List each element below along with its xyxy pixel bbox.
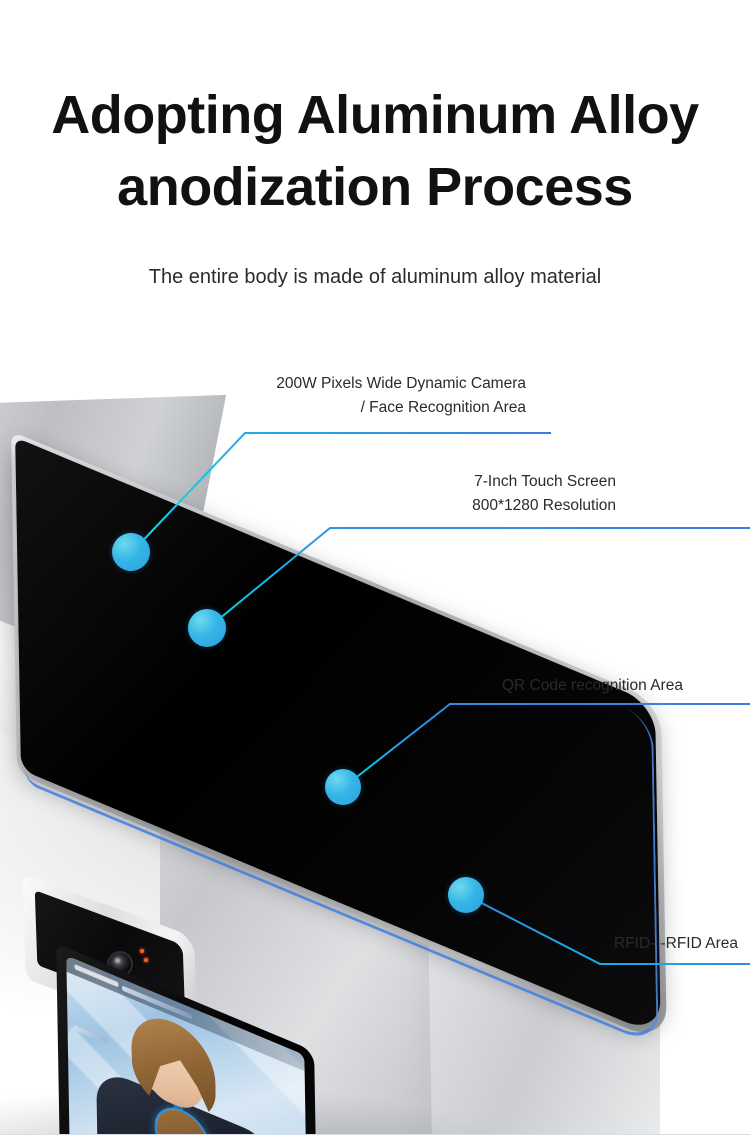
callout-camera-line-2: / Face Recognition Area xyxy=(262,396,526,420)
hotspot-dot-rfid[interactable] xyxy=(448,877,484,913)
callout-label-qr: QR Code recognition Area xyxy=(502,674,683,698)
page-header: Adopting Aluminum Alloy anodization Proc… xyxy=(0,0,750,289)
product-feature-page: Adopting Aluminum Alloy anodization Proc… xyxy=(0,0,750,1135)
led-indicator-icon xyxy=(144,958,148,962)
callout-screen-line-1: 7-Inch Touch Screen xyxy=(452,470,616,494)
callout-label-rfid: RFID---RFID Area xyxy=(614,932,738,956)
callout-label-screen: 7-Inch Touch Screen 800*1280 Resolution xyxy=(452,470,616,518)
hotspot-dot-qr[interactable] xyxy=(325,769,361,805)
callout-camera-line-1: 200W Pixels Wide Dynamic Camera xyxy=(262,372,526,396)
callout-label-camera: 200W Pixels Wide Dynamic Camera / Face R… xyxy=(262,372,526,420)
callout-rfid-line-1: RFID---RFID Area xyxy=(614,932,738,956)
page-title-line-1: Adopting Aluminum Alloy xyxy=(0,80,750,152)
page-subtitle: The entire body is made of aluminum allo… xyxy=(0,266,750,289)
callout-screen-line-2: 800*1280 Resolution xyxy=(452,494,616,518)
hotspot-dot-camera[interactable] xyxy=(112,533,150,571)
page-title: Adopting Aluminum Alloy anodization Proc… xyxy=(0,0,750,224)
hotspot-dot-screen[interactable] xyxy=(188,609,226,647)
device-illustration xyxy=(0,400,750,1135)
led-indicator-icon xyxy=(140,949,144,953)
page-title-line-2: anodization Process xyxy=(0,152,750,224)
callout-qr-line-1: QR Code recognition Area xyxy=(502,674,683,698)
